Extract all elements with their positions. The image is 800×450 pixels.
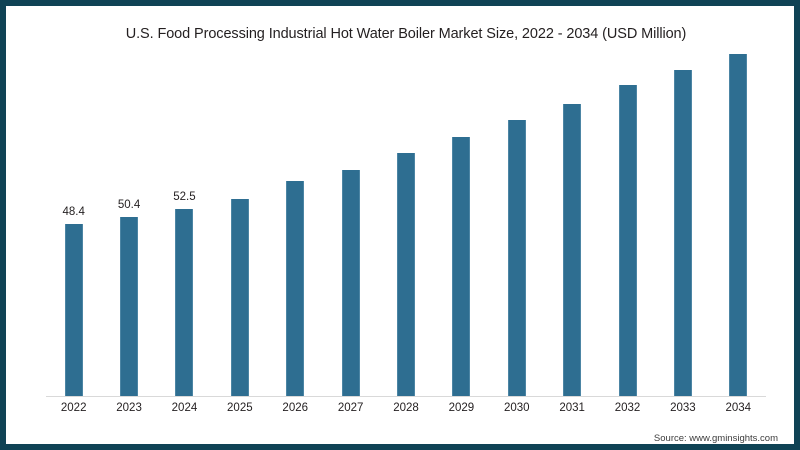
bar-2027[interactable] — [342, 170, 360, 396]
bar-2029[interactable] — [452, 137, 470, 396]
bar-slot — [434, 66, 489, 396]
bar-2028[interactable] — [397, 153, 415, 396]
bar-slot — [544, 66, 599, 396]
bar-2023[interactable] — [120, 217, 138, 396]
bar-value-label-2023: 50.4 — [118, 199, 140, 211]
bar-slot — [711, 66, 766, 396]
x-tick-label-2022: 2022 — [46, 402, 101, 414]
x-tick-label-2029: 2029 — [434, 402, 489, 414]
bar-plot-area: 48.450.452.5 — [46, 66, 766, 396]
bar-2033[interactable] — [674, 70, 692, 396]
bar-slot — [378, 66, 433, 396]
bar-value-label-2024: 52.5 — [173, 191, 195, 203]
bar-slot — [600, 66, 655, 396]
chart-title: U.S. Food Processing Industrial Hot Wate… — [6, 26, 800, 42]
bar-2024[interactable] — [175, 209, 193, 396]
bar-slot — [268, 66, 323, 396]
bar-slot — [323, 66, 378, 396]
x-tick-label-2032: 2032 — [600, 402, 655, 414]
bar-2031[interactable] — [563, 104, 581, 396]
x-tick-label-2024: 2024 — [157, 402, 212, 414]
x-tick-label-2023: 2023 — [101, 402, 156, 414]
bar-2030[interactable] — [508, 120, 526, 396]
bar-slot: 48.4 — [46, 66, 101, 396]
source-attribution: Source: www.gminsights.com — [654, 433, 778, 444]
bar-slot — [489, 66, 544, 396]
x-tick-label-2025: 2025 — [212, 402, 267, 414]
bar-2022[interactable] — [65, 224, 83, 396]
chart-canvas: U.S. Food Processing Industrial Hot Wate… — [6, 6, 800, 450]
x-tick-label-2033: 2033 — [655, 402, 710, 414]
bar-slot — [655, 66, 710, 396]
x-tick-label-2026: 2026 — [268, 402, 323, 414]
x-tick-label-2028: 2028 — [378, 402, 433, 414]
x-tick-label-2034: 2034 — [711, 402, 766, 414]
x-tick-label-2031: 2031 — [544, 402, 599, 414]
bar-slot: 52.5 — [157, 66, 212, 396]
x-axis-line — [46, 396, 766, 397]
x-tick-label-2030: 2030 — [489, 402, 544, 414]
chart-card: U.S. Food Processing Industrial Hot Wate… — [0, 0, 800, 450]
bar-2034[interactable] — [729, 54, 747, 396]
bar-slot — [212, 66, 267, 396]
bar-slot: 50.4 — [101, 66, 156, 396]
bar-2025[interactable] — [231, 199, 249, 396]
x-tick-label-2027: 2027 — [323, 402, 378, 414]
bar-2032[interactable] — [619, 85, 637, 396]
bar-2026[interactable] — [286, 181, 304, 396]
bar-value-label-2022: 48.4 — [62, 206, 84, 218]
